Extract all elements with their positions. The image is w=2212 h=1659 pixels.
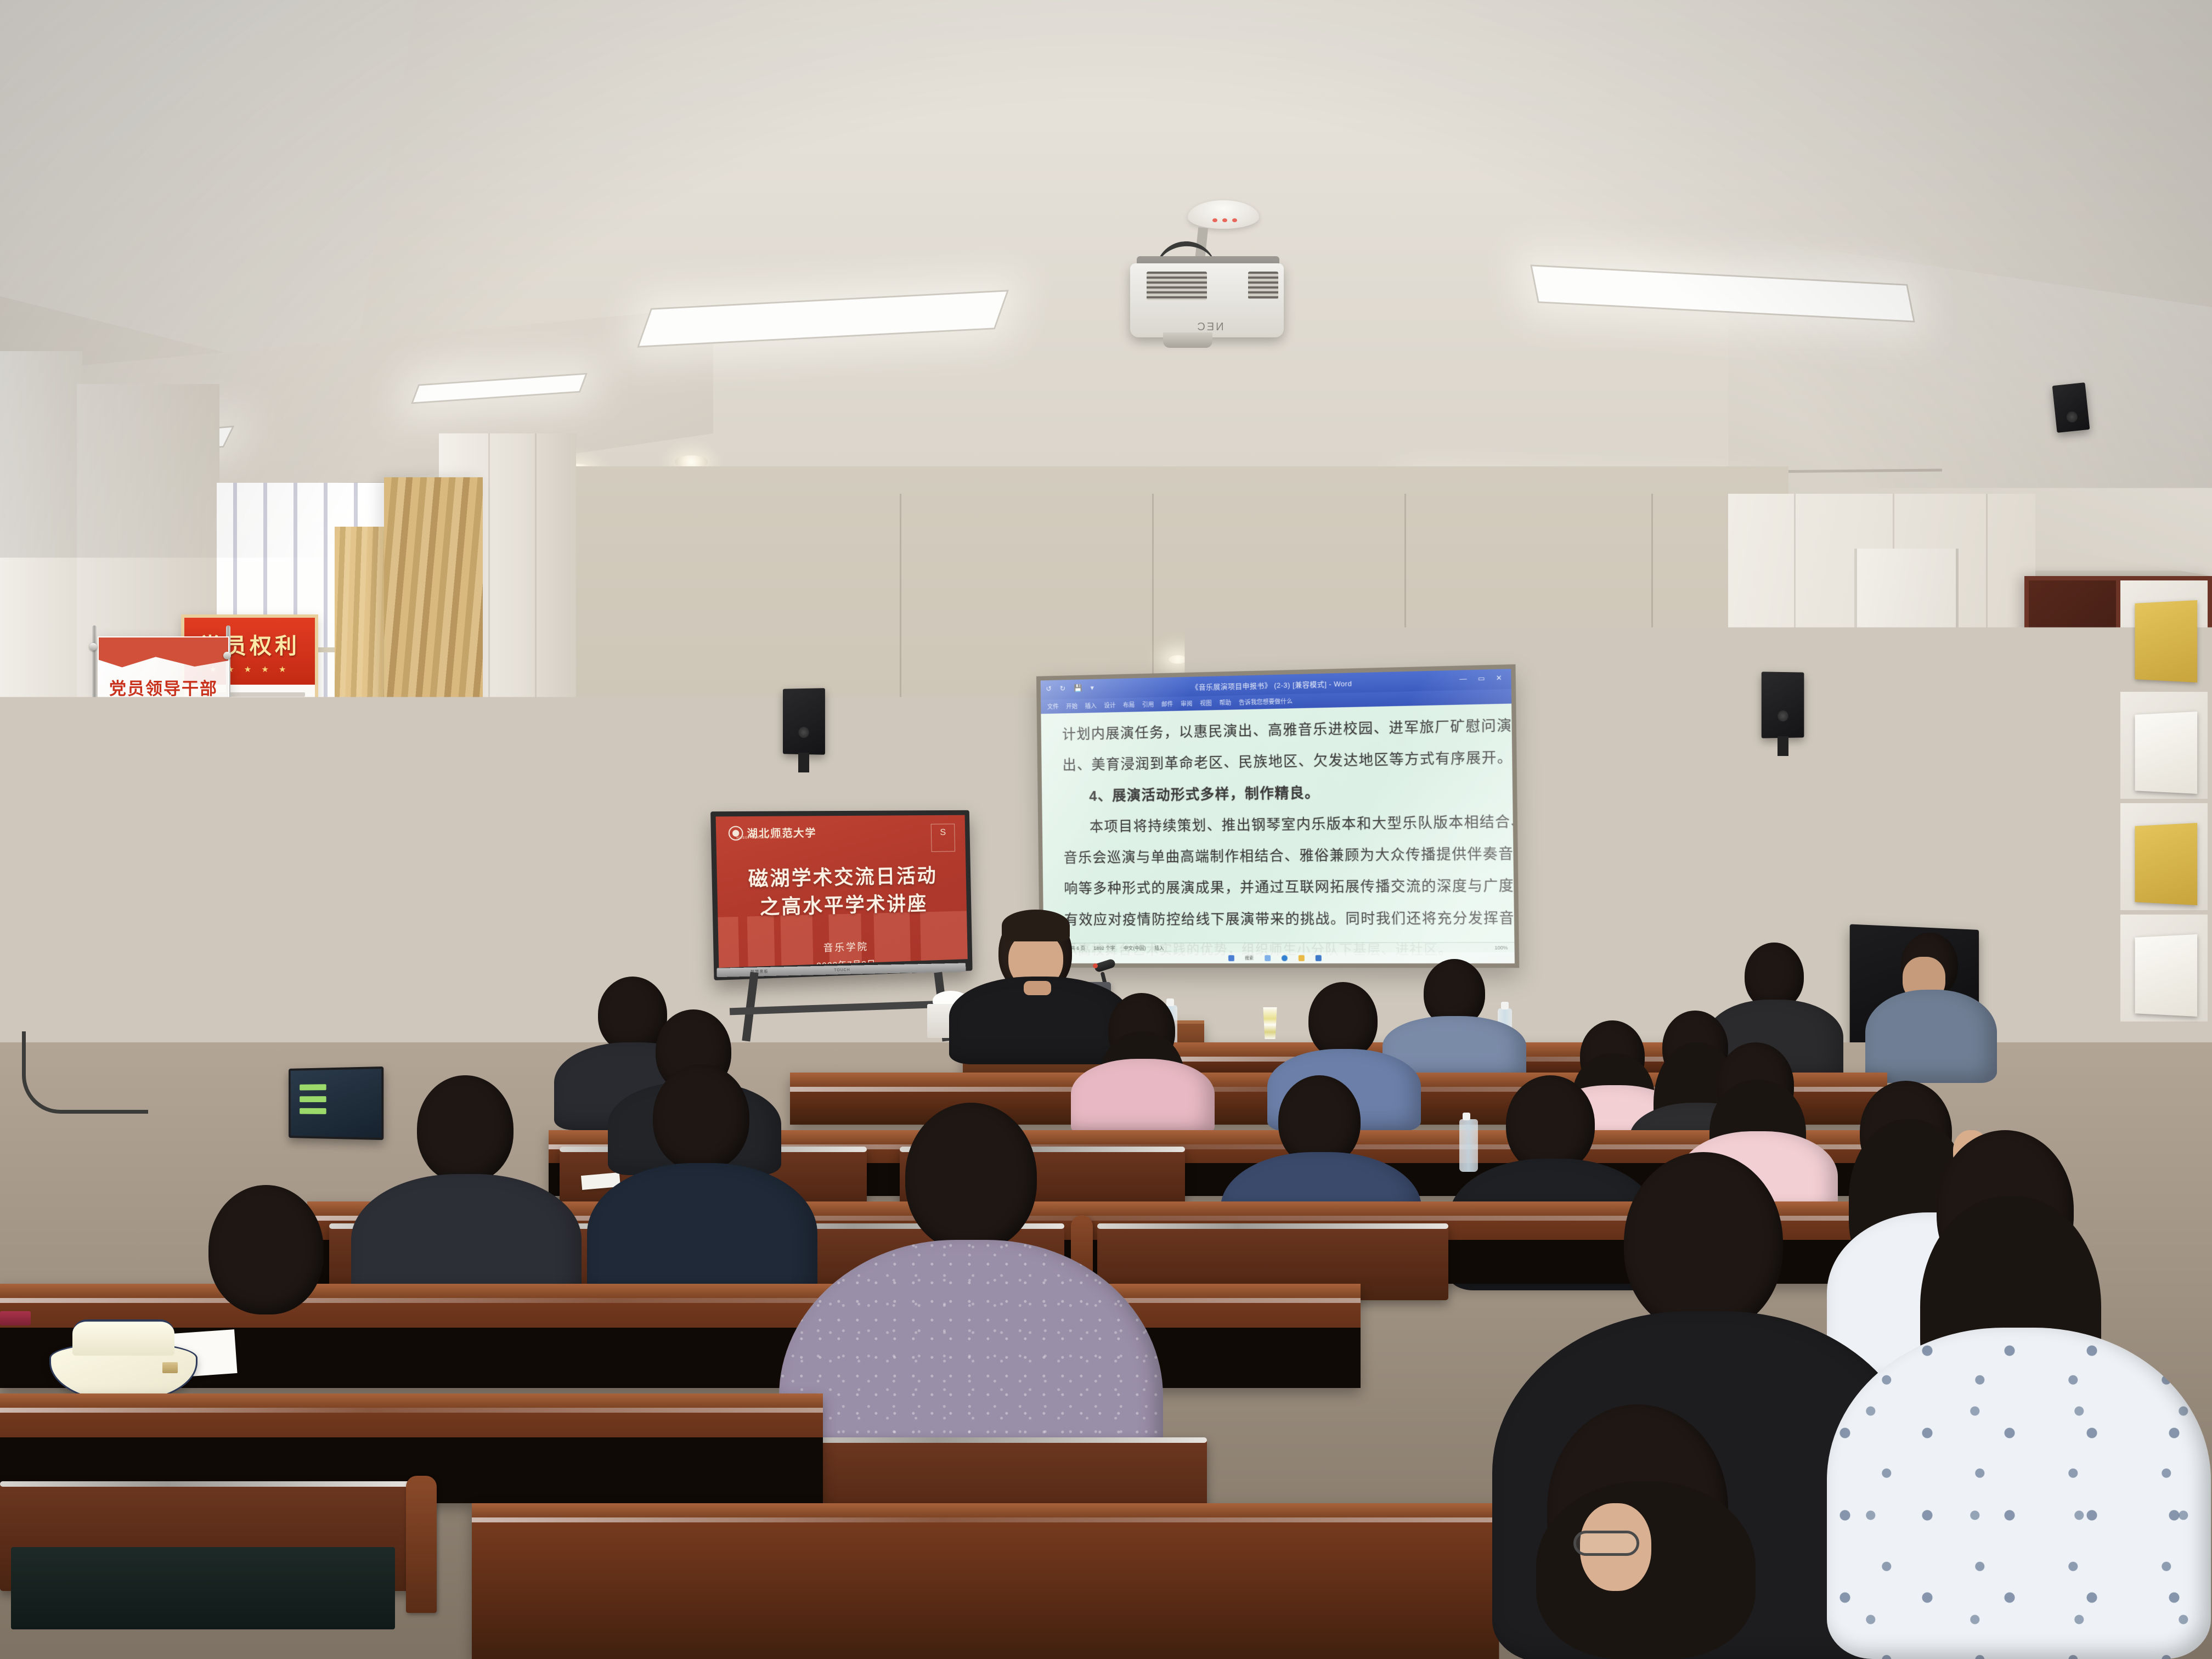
head bbox=[208, 1185, 324, 1314]
poster-text-line bbox=[463, 875, 522, 878]
microphone-led bbox=[1093, 963, 1098, 968]
head bbox=[1624, 1152, 1783, 1333]
tab-view[interactable]: 视图 bbox=[1200, 699, 1212, 708]
torso bbox=[1827, 1328, 2211, 1659]
poster-bolt bbox=[89, 643, 97, 651]
insert-mode: 插入 bbox=[1154, 944, 1164, 951]
bench-desktop bbox=[0, 1284, 1361, 1298]
poster-bolt bbox=[89, 906, 97, 914]
rule-text: 自觉带头树立良好家风。 bbox=[144, 843, 225, 851]
word-count: 1892 个字 bbox=[1093, 944, 1115, 951]
event-display-screen: 湖北师范大学 HUBEI NORMAL UNIVERSITY S 磁湖学术交流日… bbox=[716, 815, 968, 968]
award-display-cabinet bbox=[2024, 576, 2212, 1026]
language-indicator: 中文(中国) bbox=[1124, 944, 1146, 951]
wall-speaker-right bbox=[1762, 672, 1804, 738]
smoke-detector-led bbox=[1212, 218, 1217, 222]
poster-title-line1: 廉洁自律 bbox=[474, 817, 507, 826]
projection-screen: ↺ ↻ 💾 ▾ 《音乐展演项目申报书》 (2-3) [兼容模式] - Word … bbox=[1041, 669, 1515, 963]
rule-text: 自觉保持人民公仆本色。 bbox=[144, 776, 225, 784]
smoke-detector-led bbox=[1232, 218, 1237, 222]
projection-screen-frame: ↺ ↻ 💾 ▾ 《音乐展演项目申报书》 (2-3) [兼容模式] - Word … bbox=[1036, 664, 1519, 968]
bench-desktop bbox=[472, 1503, 1514, 1517]
poster-bolt bbox=[223, 915, 231, 923]
smoke-detector-led bbox=[1222, 218, 1227, 222]
shelf-cell bbox=[2120, 692, 2208, 799]
bench-shine bbox=[472, 1517, 1514, 1522]
audience-tablet[interactable] bbox=[289, 1066, 383, 1140]
shelf-cell bbox=[2029, 915, 2116, 1022]
lecture-hall-photo: NEC 党员权利 ★ ★ ★ ★ ★ bbox=[0, 0, 2212, 1659]
wall-seam bbox=[1986, 494, 1988, 1070]
award-plaque bbox=[2135, 823, 2197, 905]
award-certificate bbox=[2135, 712, 2197, 794]
taskbar-search-label[interactable]: 搜索 bbox=[1245, 955, 1254, 961]
projector-lens bbox=[1163, 332, 1212, 348]
start-icon[interactable] bbox=[1228, 955, 1234, 961]
document-line-heading: 4、展演活动形式多样，制作精良。 bbox=[1063, 782, 1493, 804]
head bbox=[905, 1103, 1037, 1251]
head bbox=[1308, 982, 1378, 1059]
wall-speaker-rear bbox=[2052, 382, 2090, 433]
curtain-tieback bbox=[340, 933, 393, 959]
rule-key: 廉洁齐家， bbox=[106, 843, 144, 851]
rule-text: 自觉维护人民根本利益。 bbox=[144, 798, 225, 806]
award-certificate bbox=[2135, 934, 2197, 1017]
tab-help[interactable]: 帮助 bbox=[1219, 698, 1231, 707]
poster-rule: 廉洁修身，自觉提升思想道德境界。 bbox=[106, 819, 223, 830]
bench-row bbox=[472, 1503, 1514, 1659]
torso bbox=[110, 1300, 406, 1531]
award-plaque bbox=[2135, 600, 2197, 682]
tab-mailings[interactable]: 邮件 bbox=[1161, 699, 1173, 708]
tablet-content bbox=[300, 1096, 326, 1102]
head bbox=[653, 1064, 749, 1171]
poster-bolt bbox=[223, 652, 231, 659]
shelf-cell bbox=[2120, 915, 2208, 1022]
shelf-cell bbox=[2029, 803, 2116, 910]
tell-me-search[interactable]: 告诉我您想要做什么 bbox=[1239, 697, 1293, 707]
projector-brand-label: NEC bbox=[1180, 321, 1240, 334]
seat-armrest bbox=[406, 1476, 437, 1613]
event-display-board: 湖北师范大学 HUBEI NORMAL UNIVERSITY S 磁湖学术交流日… bbox=[710, 810, 973, 980]
zoom-level[interactable]: 100% bbox=[1494, 945, 1508, 950]
seat-rail bbox=[757, 1437, 1207, 1443]
window-bar bbox=[324, 483, 328, 1059]
presenter-neck bbox=[1024, 981, 1051, 995]
poster-rule: 廉洁从政，自觉保持人民公仆本色。 bbox=[106, 774, 223, 785]
tab-design[interactable]: 设计 bbox=[1104, 701, 1115, 710]
poster-pillar-small: 廉洁自律 清风徐来 bbox=[455, 785, 526, 949]
display-stand bbox=[730, 972, 960, 1043]
bench-shine bbox=[0, 1298, 1361, 1303]
water-bottle bbox=[1459, 1119, 1478, 1172]
torso bbox=[1071, 1059, 1215, 1136]
poster-rules-list: 廉洁从政，自觉保持人民公仆本色。 廉洁用权，自觉维护人民根本利益。 廉洁修身，自… bbox=[106, 774, 223, 864]
tab-home[interactable]: 开始 bbox=[1066, 702, 1077, 710]
tablet-content bbox=[300, 1108, 326, 1114]
rule-key: 廉洁从政， bbox=[106, 776, 144, 784]
word-document-body[interactable]: 计划内展演任务，以惠民演出、高雅音乐进校园、进军旅厂矿慰问演 出、美育浸润到革命… bbox=[1041, 703, 1514, 953]
event-title: 磁湖学术交流日活动 之高水平学术讲座 bbox=[716, 861, 967, 923]
app-icon[interactable] bbox=[1298, 955, 1304, 961]
poster-decoration bbox=[455, 785, 526, 809]
screen-spotlight bbox=[1169, 655, 1187, 664]
paper-cup bbox=[1262, 1007, 1278, 1039]
event-emblem: S bbox=[931, 823, 955, 851]
poster-title-line1: 党员领导干部 bbox=[109, 679, 218, 698]
document-line: 响等多种形式的展演成果，并通过互联网拓展传播交流的深度与广度， bbox=[1064, 879, 1494, 896]
shelf-cell bbox=[2120, 803, 2208, 910]
document-line: 出、美育浸润到革命老区、民族地区、欠发达地区等方式有序展开。 bbox=[1063, 751, 1493, 773]
poster-title-line2: 清风徐来 bbox=[474, 828, 507, 837]
tab-references[interactable]: 引用 bbox=[1142, 700, 1154, 709]
event-title-line1: 磁湖学术交流日活动 bbox=[748, 864, 937, 890]
light-switch[interactable] bbox=[1920, 657, 1939, 681]
poster-title: 党员领导干部 廉洁自律规范 bbox=[99, 678, 228, 721]
document-line: 有效应对疫情防控给线下展演带来的挑战。同时我们还将充分发挥音 bbox=[1064, 911, 1495, 927]
word-status-bar: 第 4 页，共 6 页 1892 个字 中文(中国) 插入 100% bbox=[1043, 942, 1514, 952]
eyeglasses bbox=[1573, 1531, 1639, 1556]
speaker-mount bbox=[798, 753, 809, 772]
tab-review[interactable]: 审阅 bbox=[1181, 699, 1193, 708]
head bbox=[417, 1075, 513, 1183]
wall-outlet bbox=[5, 993, 27, 1012]
wall-seam bbox=[488, 433, 490, 1070]
door-handle[interactable] bbox=[1863, 708, 1877, 722]
event-title-line2: 之高水平学术讲座 bbox=[759, 892, 928, 918]
curtain bbox=[384, 477, 483, 1070]
window-controls[interactable]: — ▭ ✕ bbox=[1459, 674, 1506, 684]
poster-stars: ★ ★ ★ ★ ★ bbox=[99, 751, 228, 760]
seat-rail bbox=[1097, 1223, 1448, 1229]
tab-insert[interactable]: 插入 bbox=[1085, 701, 1097, 710]
poster-title: 廉洁自律 清风徐来 bbox=[455, 816, 526, 839]
tab-file[interactable]: 文件 bbox=[1047, 702, 1059, 711]
poster-text-line bbox=[463, 850, 516, 853]
rule-key: 廉洁修身， bbox=[106, 821, 144, 829]
poster-rail bbox=[92, 625, 97, 933]
projector-vent bbox=[1147, 272, 1207, 300]
poster-title-line2: 廉洁自律规范 bbox=[109, 701, 218, 720]
floor-cable bbox=[22, 1031, 148, 1114]
document-line: 音乐会巡演与单曲高端制作相结合、雅俗兼顾为大众传播提供伴奏音 bbox=[1064, 847, 1494, 865]
poster-rule: 廉洁用权，自觉维护人民根本利益。 bbox=[106, 796, 223, 807]
wall-seam bbox=[535, 433, 537, 1070]
poster-text-line bbox=[463, 867, 512, 870]
shelf-cell bbox=[2120, 580, 2208, 687]
app-icon[interactable] bbox=[1281, 955, 1287, 961]
speaker-mount bbox=[1778, 736, 1788, 756]
tab-layout[interactable]: 布局 bbox=[1123, 701, 1135, 709]
screen-spotlight bbox=[1410, 651, 1429, 659]
tablet-content bbox=[300, 1084, 326, 1090]
app-icon[interactable] bbox=[1265, 955, 1271, 961]
document-line: 计划内展演任务，以惠民演出、高雅音乐进校园、进军旅厂矿慰问演 bbox=[1062, 719, 1493, 742]
display-model-label: TOUCH bbox=[834, 968, 850, 972]
wall-seam bbox=[1651, 494, 1653, 988]
rule-text: 自觉提升思想道德境界。 bbox=[144, 821, 225, 829]
projector-vent bbox=[1248, 272, 1278, 299]
poster-rule: 廉洁齐家，自觉带头树立良好家风。 bbox=[106, 841, 223, 852]
poster-decoration bbox=[99, 637, 228, 675]
poster-decoration bbox=[455, 911, 526, 949]
university-name-en: HUBEI NORMAL UNIVERSITY bbox=[736, 836, 795, 840]
wall-speaker-left bbox=[783, 688, 825, 754]
document-line: 本项目将持续策划、推出钢琴室内乐版本和大型乐队版本相结合、 bbox=[1063, 815, 1494, 835]
stand-crossbar bbox=[730, 1000, 960, 1015]
rule-key: 廉洁用权， bbox=[106, 798, 144, 806]
presenter-hair bbox=[1002, 910, 1070, 941]
shelf-cell bbox=[2029, 580, 2116, 687]
side-door[interactable] bbox=[1854, 549, 1959, 856]
poster-integrity-rules: 党员领导干部 廉洁自律规范 ★ ★ ★ ★ ★ 廉洁从政，自觉保持人民公仆本色。… bbox=[98, 636, 229, 922]
torso bbox=[1865, 990, 1997, 1083]
app-icon[interactable] bbox=[1315, 955, 1321, 961]
shelf-cell bbox=[2029, 692, 2116, 799]
seat-cushion bbox=[11, 1547, 395, 1629]
poster-text-line bbox=[463, 859, 525, 861]
red-object-on-desk bbox=[0, 1311, 31, 1325]
poster-body bbox=[455, 850, 526, 883]
